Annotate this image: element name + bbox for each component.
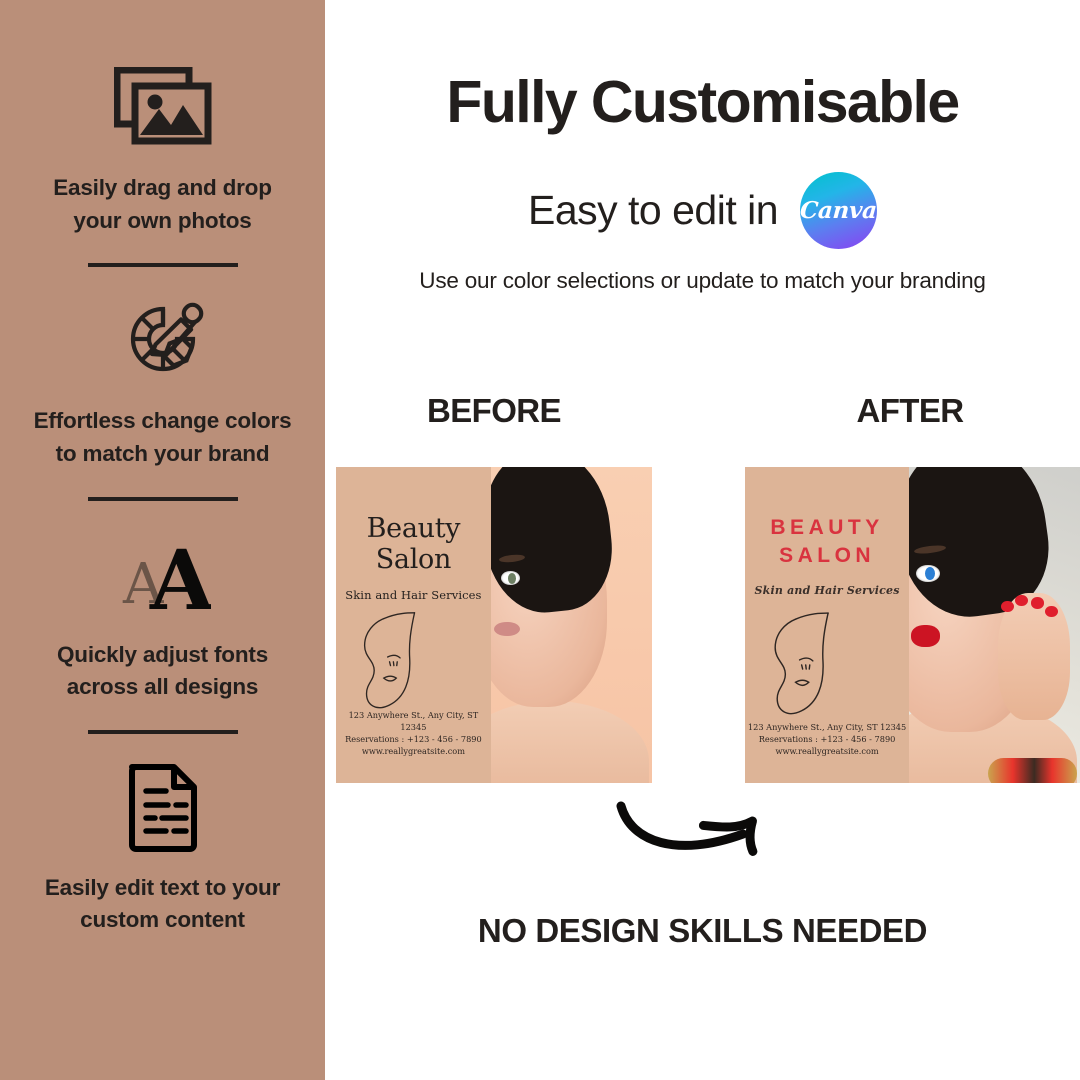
feature-label: Easily edit text to your custom content: [32, 872, 294, 937]
line-art-face-icon: [355, 609, 451, 722]
canva-logo-text: Canva: [799, 197, 878, 224]
footer-text: NO DESIGN SKILLS NEEDED: [325, 912, 1080, 950]
sidebar-divider-1: [88, 263, 238, 267]
main-panel: Fully Customisable Easy to edit in Canva…: [325, 0, 1080, 1080]
model-photo-after: [909, 467, 1080, 783]
line-art-face-icon: [765, 609, 867, 729]
feature-drag-drop-photos: Easily drag and drop your own photos: [0, 58, 325, 237]
flyer-artwork-after: BEAUTY SALON Skin and Hair Services 123 …: [745, 467, 909, 783]
brand-name-line1: Beauty: [336, 514, 491, 544]
sidebar-divider-3: [88, 730, 238, 734]
flyer-address: 123 Anywhere St., Any City, ST 12345: [745, 721, 909, 733]
flyer-contact-block: 123 Anywhere St., Any City, ST 12345 Res…: [745, 721, 909, 758]
bracelet-shape: [988, 758, 1077, 783]
nail-shape: [1001, 601, 1014, 612]
curved-arrow-icon: [615, 800, 785, 870]
images-stack-icon: [114, 58, 212, 154]
nail-shape: [1045, 606, 1058, 617]
color-wheel-eyedropper-icon: [115, 291, 211, 387]
lips-shape: [494, 622, 520, 636]
nail-shape: [1015, 595, 1028, 606]
feature-adjust-fonts: A A Quickly adjust fonts across all desi…: [0, 525, 325, 704]
model-photo-before: [491, 467, 652, 783]
after-label: AFTER: [745, 392, 1075, 430]
nail-shape: [1031, 597, 1044, 608]
flyer-contact-block: 123 Anywhere St., Any City, ST 12345 Res…: [336, 709, 491, 758]
page-title: Fully Customisable: [325, 68, 1080, 136]
subtitle-row: Easy to edit in Canva: [325, 172, 1080, 249]
canva-logo[interactable]: Canva: [800, 172, 877, 249]
feature-change-colors: Effortless change colors to match your b…: [0, 291, 325, 470]
shoulder-shape: [491, 701, 649, 783]
flyer-artwork-before: Beauty Salon Skin and Hair Services 123 …: [336, 467, 491, 783]
flyer-brand-block: BEAUTY SALON Skin and Hair Services: [745, 514, 909, 597]
flyer-website: www.reallygreatsite.com: [745, 745, 909, 757]
feature-label: Easily drag and drop your own photos: [32, 172, 294, 237]
before-design-preview[interactable]: Beauty Salon Skin and Hair Services 123 …: [336, 467, 652, 783]
after-design-preview[interactable]: BEAUTY SALON Skin and Hair Services 123 …: [745, 467, 1080, 783]
brand-name-line2: SALON: [745, 542, 909, 569]
flyer-reservations: Reservations : +123 - 456 - 7890: [336, 733, 491, 745]
brand-services: Skin and Hair Services: [336, 588, 491, 602]
flyer-website: www.reallygreatsite.com: [336, 745, 491, 757]
tagline-text: Use our color selections or update to ma…: [325, 268, 1080, 294]
brand-name-line2: Salon: [336, 545, 491, 575]
features-sidebar: Easily drag and drop your own photos Eff…: [0, 0, 325, 1080]
flyer-address: 123 Anywhere St., Any City, ST 12345: [336, 709, 491, 734]
font-size-aa-icon: A A: [115, 525, 211, 621]
brand-name-line1: BEAUTY: [745, 514, 909, 541]
subtitle-text: Easy to edit in: [528, 187, 778, 234]
document-text-icon: [124, 758, 202, 854]
brand-services: Skin and Hair Services: [745, 584, 909, 597]
flyer-reservations: Reservations : +123 - 456 - 7890: [745, 733, 909, 745]
feature-label: Quickly adjust fonts across all designs: [32, 639, 294, 704]
flyer-brand-block: Beauty Salon Skin and Hair Services: [336, 514, 491, 601]
sidebar-divider-2: [88, 497, 238, 501]
svg-text:A: A: [149, 533, 211, 615]
hand-shape: [998, 593, 1070, 719]
before-label: BEFORE: [336, 392, 652, 430]
feature-label: Effortless change colors to match your b…: [32, 405, 294, 470]
feature-edit-text: Easily edit text to your custom content: [0, 758, 325, 937]
lips-shape: [911, 625, 940, 647]
